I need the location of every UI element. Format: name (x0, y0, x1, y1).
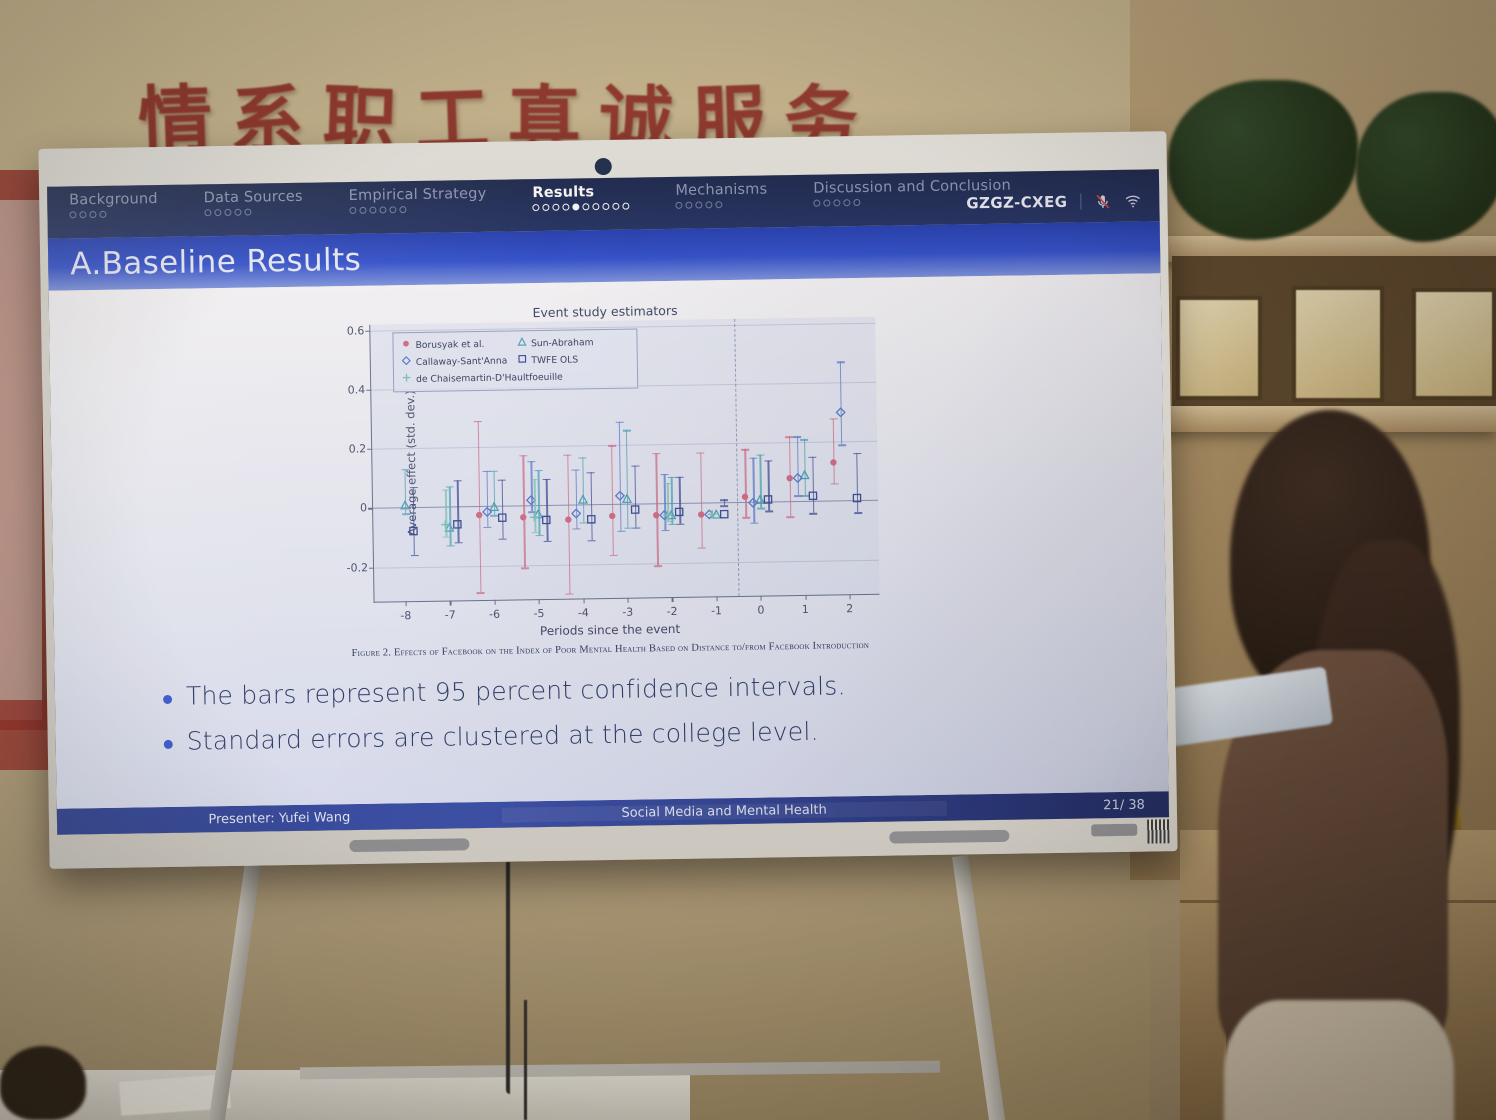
nav-section-label: Mechanisms (675, 181, 767, 198)
chart-x-tick-label: 2 (846, 602, 853, 615)
chart-error-bar (582, 457, 584, 522)
page-title: A.Baseline Results (70, 242, 361, 283)
chart-error-cap (720, 499, 728, 501)
chart-x-tick-mark (805, 595, 806, 600)
chart-data-point (835, 404, 845, 422)
interactive-display[interactable]: BackgroundData SourcesEmpirical Strategy… (38, 131, 1177, 869)
chart-data-point (748, 494, 758, 512)
chart-error-cap (664, 483, 672, 485)
triangle-icon (517, 337, 526, 349)
nav-dot[interactable] (89, 211, 96, 218)
nav-dot[interactable] (623, 203, 630, 210)
chart-x-tick-label: -3 (622, 606, 633, 619)
footer-presenter: Presenter: Yufei Wang (57, 807, 502, 829)
presentation-slide: BackgroundData SourcesEmpirical Strategy… (47, 169, 1169, 834)
chart-data-point (571, 506, 581, 524)
chart-error-cap (490, 471, 498, 473)
chart-data-point (828, 454, 838, 472)
system-status-area: GZGZ-CXEG (966, 192, 1141, 213)
chart-gridline (374, 559, 879, 568)
chart-error-bar (833, 418, 835, 483)
chart-error-cap (531, 532, 539, 534)
chart-error-cap (498, 479, 506, 481)
chart-error-cap (443, 536, 451, 538)
chart-x-axis-label: Periods since the event (330, 619, 890, 642)
wifi-icon[interactable] (1124, 192, 1141, 209)
chart-error-cap (698, 547, 706, 549)
chart-error-cap (609, 554, 617, 556)
chart-error-bar (744, 449, 746, 517)
legend-label: Callaway-Sant'Anna (416, 355, 508, 367)
chart-error-cap (477, 592, 485, 594)
chart-data-point (719, 506, 729, 524)
legend-label: TWFE OLS (531, 354, 578, 366)
figure-caption: Figure 2. Effects of Facebook on the Ind… (330, 639, 890, 662)
plant-right (1356, 92, 1496, 242)
chart-error-cap (535, 535, 543, 537)
chart-legend: Borusyak et al.Sun-AbrahamCallaway-Sant'… (392, 329, 638, 393)
footer-talk-title: Social Media and Mental Health (502, 800, 947, 822)
chart-error-cap (573, 528, 581, 530)
chart-error-cap (409, 487, 417, 489)
display-screen[interactable]: BackgroundData SourcesEmpirical Strategy… (47, 169, 1169, 834)
chart-x-tick-label: 0 (757, 604, 764, 617)
chart-x-tick-mark (761, 596, 762, 601)
nav-dot[interactable] (234, 209, 241, 216)
chart-error-cap (749, 458, 757, 460)
chart-error-bar (590, 472, 592, 540)
chart-x-tick-label: -6 (489, 608, 500, 621)
nav-dot[interactable] (389, 206, 396, 213)
chart-data-point (607, 508, 617, 526)
chart-error-cap (742, 517, 750, 519)
chart-error-cap (572, 469, 580, 471)
chart-error-cap (853, 453, 861, 455)
chart-error-cap (617, 531, 625, 533)
chart-x-tick-label: 1 (802, 603, 809, 616)
legend-entry-filled-circle: Borusyak et al. (401, 337, 513, 351)
chart-error-cap (542, 479, 550, 481)
chart-error-cap (668, 477, 676, 479)
legend-entry-diamond: Callaway-Sant'Anna (402, 354, 514, 368)
chart-data-point (807, 487, 817, 505)
chart-error-cap (697, 453, 705, 455)
chart-error-cap (442, 489, 450, 491)
nav-dot[interactable] (706, 201, 713, 208)
chart-error-cap (624, 528, 632, 530)
nav-dot[interactable] (686, 202, 693, 209)
chart-x-tick-label: -2 (667, 605, 678, 618)
nav-dot[interactable] (553, 204, 560, 211)
chart-y-tick-mark (368, 508, 373, 509)
chart-error-cap (800, 439, 808, 441)
certificate-3 (1412, 288, 1496, 400)
nav-dot[interactable] (716, 201, 723, 208)
chart-x-tick-label: -4 (578, 606, 589, 619)
chart-data-point (482, 504, 492, 522)
chart-error-cap (786, 516, 794, 518)
chart-error-bar (619, 421, 622, 530)
chart-error-cap (447, 545, 455, 547)
nav-section-label: Data Sources (204, 189, 303, 207)
certificate-2 (1292, 286, 1384, 402)
nav-dot[interactable] (676, 202, 683, 209)
chart-x-tick-mark (406, 601, 407, 606)
footer-page-number: 21/ 38 (946, 797, 1169, 815)
chart-error-cap (676, 524, 684, 526)
display-ports[interactable] (1091, 824, 1137, 837)
chart-error-cap (838, 444, 846, 446)
nav-dot[interactable] (813, 200, 820, 207)
legend-entry-square: TWFE OLS (517, 353, 629, 367)
nav-progress-dots (533, 203, 630, 212)
chart-error-cap (654, 566, 662, 568)
power-cable (506, 862, 510, 1094)
speaker-grille-left (349, 838, 469, 852)
chart-error-cap (455, 542, 463, 544)
chart-data-point (529, 509, 539, 527)
chart-x-tick-mark (539, 599, 540, 604)
legend-label: Borusyak et al. (415, 338, 484, 350)
nav-dot[interactable] (204, 209, 211, 216)
chart-data-point (763, 491, 773, 509)
chart-x-tick-label: -7 (445, 608, 456, 621)
chart-data-point (615, 487, 625, 505)
nav-dot[interactable] (399, 206, 406, 213)
nav-section-background[interactable]: Background (69, 191, 158, 218)
square-icon (517, 354, 526, 366)
chart-x-tick-mark (494, 600, 495, 605)
nav-dot[interactable] (99, 211, 106, 218)
nav-dot[interactable] (823, 199, 830, 206)
chart-x-tick-mark (583, 598, 584, 603)
chart-x-tick-mark (628, 598, 629, 603)
chart-error-cap (579, 457, 587, 459)
nav-dot[interactable] (349, 207, 356, 214)
chart-gridline (372, 441, 877, 450)
chart-x-tick-mark (672, 597, 673, 602)
chart-error-cap (474, 421, 482, 423)
chart-data-point (497, 510, 507, 528)
chart-data-point (707, 507, 717, 525)
chart-error-bar (753, 458, 755, 523)
nav-section-data-sources[interactable]: Data Sources (204, 189, 303, 217)
nav-section-mechanisms[interactable]: Mechanisms (675, 181, 767, 208)
nav-dot[interactable] (214, 209, 221, 216)
nav-dot[interactable] (533, 204, 540, 211)
nav-dot[interactable] (583, 203, 590, 210)
chart-error-cap (521, 568, 529, 570)
nav-dot[interactable] (359, 207, 366, 214)
nav-dot[interactable] (613, 203, 620, 210)
bullet-list: The bars represent 95 percent confidence… (163, 667, 1108, 756)
chart-error-cap (499, 538, 507, 540)
display-qr-label (1147, 819, 1169, 843)
chart-y-tick-mark (367, 449, 372, 450)
chart-error-cap (756, 455, 764, 457)
nav-dot[interactable] (603, 203, 610, 210)
nav-dot[interactable] (369, 207, 376, 214)
chart-error-cap (830, 483, 838, 485)
chart-error-cap (631, 465, 639, 467)
bullet-text: The bars represent 95 percent confidence… (186, 671, 846, 710)
chart-error-cap (608, 445, 616, 447)
chart-plot-area: Average effect (std. dev.) Borusyak et a… (369, 317, 879, 603)
chart-error-bar (546, 479, 548, 541)
chart-error-cap (622, 430, 630, 432)
chart-error-cap (454, 480, 462, 482)
chart-error-bar (700, 453, 703, 548)
chart-error-cap (588, 540, 596, 542)
chart-x-tick-label: -5 (533, 607, 544, 620)
status-divider (1080, 194, 1081, 210)
chart-data-point (852, 490, 862, 508)
speaker-grille-center (889, 830, 1009, 844)
chart-x-tick-mark (849, 594, 850, 599)
chart-data-point (408, 523, 418, 541)
presenter-person (1190, 400, 1490, 1120)
legend-entry-plus: de Chaisemartin-D'Haultfoeuille (402, 370, 629, 386)
chart-error-cap (794, 495, 802, 497)
nav-dot[interactable] (696, 201, 703, 208)
chart-error-cap (530, 479, 538, 481)
nav-dot[interactable] (833, 199, 840, 206)
nav-dot[interactable] (573, 203, 580, 210)
chart-data-point (662, 507, 672, 525)
chart-error-cap (519, 455, 527, 457)
wall-panel (0, 200, 42, 720)
chart-error-cap (543, 541, 551, 543)
legend-entry-triangle: Sun-Abraham (517, 336, 629, 350)
legend-label: de Chaisemartin-D'Haultfoeuille (416, 371, 563, 384)
chart-error-cap (587, 472, 595, 474)
chart-error-cap (765, 511, 773, 513)
chart-x-tick-mark (716, 596, 717, 601)
chart-error-cap (764, 460, 772, 462)
chart-event-reference-line (734, 319, 739, 596)
nav-progress-dots (204, 208, 303, 217)
event-study-chart: Event study estimators Average effect (s… (325, 300, 890, 662)
nav-progress-dots (676, 200, 768, 208)
nav-dot[interactable] (224, 209, 231, 216)
bullet-dot-icon (164, 740, 173, 749)
chart-error-cap (446, 486, 454, 488)
chart-x-tick-label: -1 (711, 604, 722, 617)
chart-y-tick-mark (365, 331, 370, 332)
chart-data-point (541, 512, 551, 530)
chart-error-bar (501, 479, 503, 538)
nav-dot[interactable] (379, 206, 386, 213)
power-cable-lower (524, 1000, 527, 1120)
chart-error-cap (836, 362, 844, 364)
chart-error-cap (741, 449, 749, 451)
bullet-text: Standard errors are clustered at the col… (187, 717, 819, 756)
legend-label: Sun-Abraham (531, 337, 594, 349)
presenter-skirt (1224, 1000, 1454, 1120)
chart-data-point (630, 502, 640, 520)
slide-content: Event study estimators Average effect (s… (49, 273, 1169, 808)
nav-section-label: Background (69, 191, 158, 208)
chart-error-cap (527, 461, 535, 463)
nav-section-label: Results (532, 184, 629, 202)
chart-error-cap (676, 477, 684, 479)
chart-error-cap (750, 523, 758, 525)
chart-error-cap (809, 513, 817, 515)
nav-dot[interactable] (843, 199, 850, 206)
nav-dot[interactable] (853, 199, 860, 206)
chart-error-cap (854, 512, 862, 514)
chart-data-point (453, 517, 463, 535)
chart-data-point (792, 470, 802, 488)
chart-error-cap (661, 474, 669, 476)
chart-error-cap (793, 436, 801, 438)
nav-dot[interactable] (593, 203, 600, 210)
nav-dot[interactable] (543, 204, 550, 211)
nav-dot[interactable] (244, 209, 251, 216)
chart-error-cap (563, 455, 571, 457)
chart-x-tick-mark (450, 600, 451, 605)
chart-error-cap (566, 594, 574, 596)
nav-section-empirical-strategy[interactable]: Empirical Strategy (349, 186, 487, 214)
chart-error-cap (401, 469, 409, 471)
chart-error-cap (652, 453, 660, 455)
nav-section-label: Empirical Strategy (349, 186, 487, 204)
chart-error-cap (410, 555, 418, 557)
plus-icon (402, 373, 411, 385)
microphone-muted-icon[interactable] (1094, 193, 1111, 210)
diamond-icon (402, 356, 411, 368)
filled-circle-icon (401, 339, 410, 351)
bullet-dot-icon (163, 695, 172, 704)
wifi-ssid-label: GZGZ-CXEG (966, 193, 1067, 213)
chart-y-tick-mark (366, 390, 371, 391)
chart-error-bar (840, 362, 843, 445)
bullet-item: The bars represent 95 percent confidence… (163, 667, 1107, 711)
chart-error-cap (534, 470, 542, 472)
chart-y-tick-mark (369, 567, 374, 568)
chart-error-cap (483, 471, 491, 473)
chart-error-cap (661, 530, 669, 532)
chart-error-cap (632, 528, 640, 530)
audience-head (0, 1046, 86, 1120)
nav-progress-dots (69, 210, 158, 218)
chart-error-cap (615, 421, 623, 423)
nav-dot[interactable] (69, 211, 76, 218)
nav-dot[interactable] (563, 204, 570, 211)
chart-data-point (400, 497, 410, 515)
nav-section-results[interactable]: Results (532, 184, 629, 212)
nav-progress-dots (349, 205, 487, 214)
chart-data-point (674, 504, 684, 522)
chart-error-cap (808, 457, 816, 459)
certificate-1 (1176, 296, 1262, 400)
chart-error-cap (785, 436, 793, 438)
chart-x-tick-label: -8 (400, 609, 411, 622)
bullet-item: Standard errors are clustered at the col… (164, 712, 1108, 756)
chart-data-point (586, 512, 596, 530)
chart-error-bar (611, 445, 614, 554)
chart-error-cap (484, 527, 492, 529)
nav-dot[interactable] (79, 211, 86, 218)
chart-data-point (441, 517, 451, 535)
